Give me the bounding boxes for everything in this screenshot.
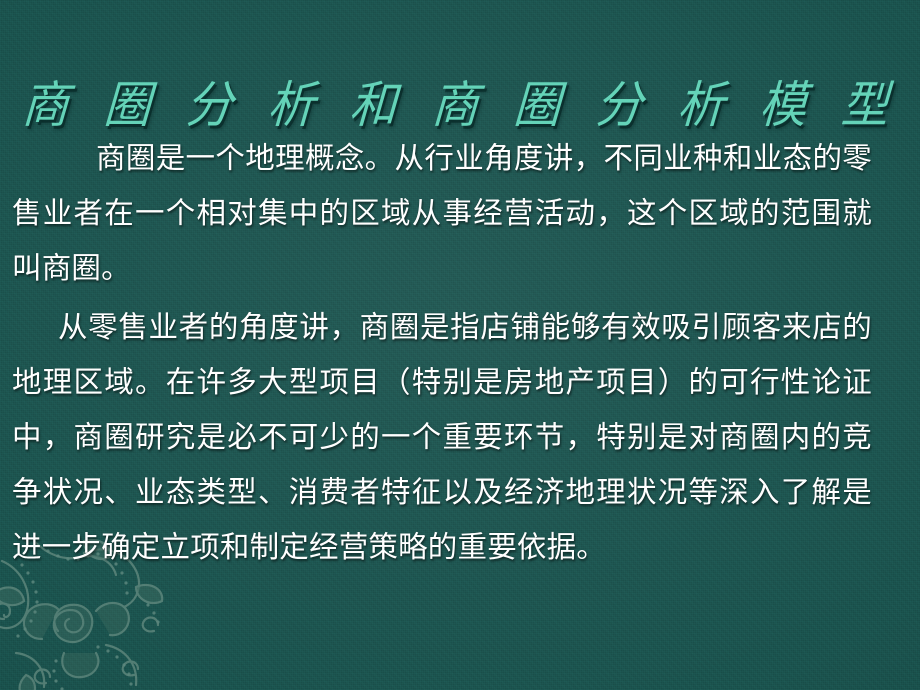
- slide-body: 商圈是一个地理概念。从行业角度讲，不同业种和业态的零售业者在一个相对集中的区域从…: [12, 132, 872, 576]
- body-paragraph-2: 从零售业者的角度讲，商圈是指店铺能够有效吸引顾客来店的地理区域。在许多大型项目（…: [12, 301, 872, 576]
- slide-title: 商 圈 分 析 和 商 圈 分 析 模 型: [0, 76, 920, 138]
- presentation-slide: 商 圈 分 析 和 商 圈 分 析 模 型 商圈是一个地理概念。从行业角度讲，不…: [0, 0, 920, 690]
- body-paragraph-1: 商圈是一个地理概念。从行业角度讲，不同业种和业态的零售业者在一个相对集中的区域从…: [12, 132, 872, 297]
